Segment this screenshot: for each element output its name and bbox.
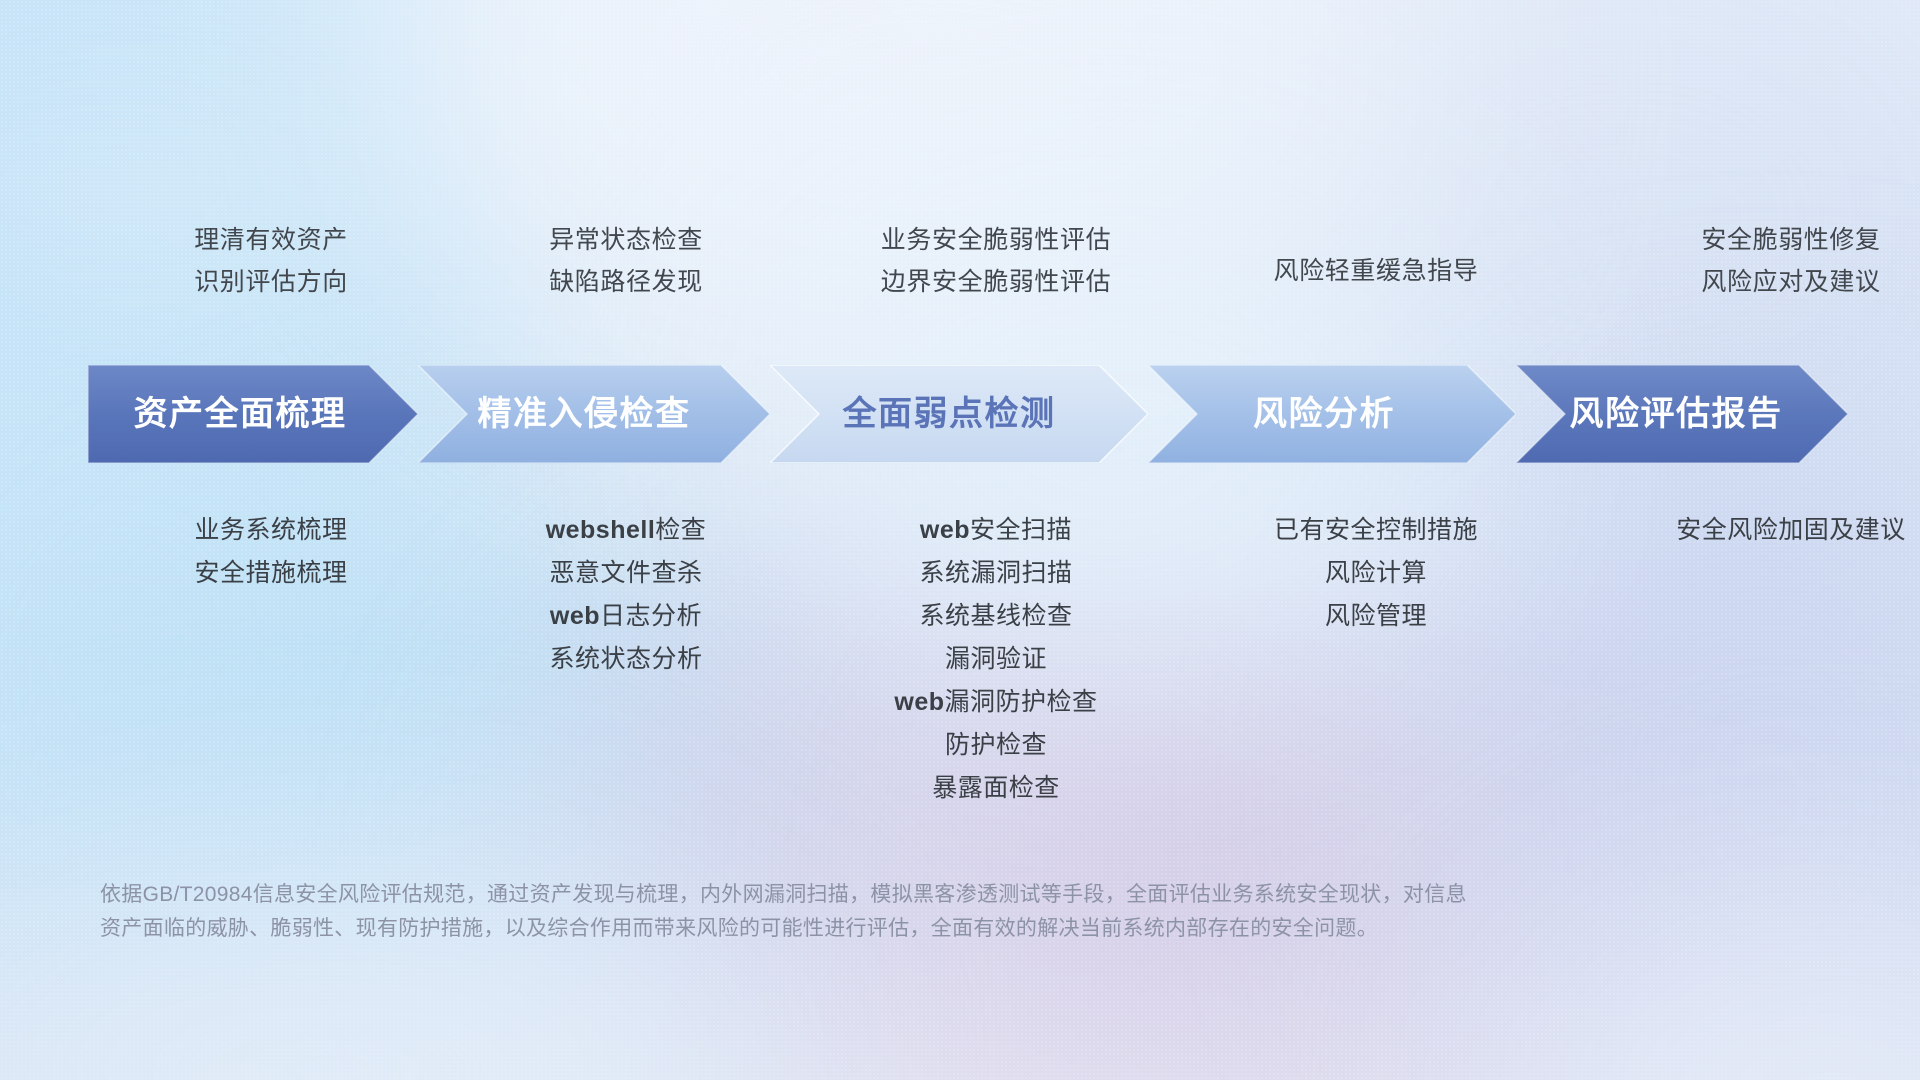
top-notes-row: 理清有效资产 识别评估方向 异常状态检查 缺陷路径发现 业务安全脆弱性评估 边界…: [0, 228, 1920, 295]
bottom-notes-risk-report: 安全风险加固及建议: [1566, 518, 1920, 543]
top-note: 缺陷路径发现: [549, 270, 703, 295]
bottom-note: web日志分析: [550, 604, 702, 629]
footer-line-1: 依据GB/T20984信息安全风险评估规范，通过资产发现与梳理，内外网漏洞扫描，…: [100, 878, 1730, 912]
bottom-note: 已有安全控制措施: [1274, 518, 1478, 543]
bottom-note-en: web: [920, 516, 970, 544]
bottom-note: 系统漏洞扫描: [919, 561, 1072, 586]
bottom-note-cn: 暴露面检查: [932, 774, 1060, 802]
bottom-note: web安全扫描: [920, 518, 1072, 543]
bottom-notes-intrusion-check: webshell检查 恶意文件查杀 web日志分析 系统状态分析: [446, 518, 806, 672]
bottom-note-cn: 漏洞验证: [945, 645, 1047, 673]
bottom-note-cn: 安全风险加固及建议: [1676, 516, 1906, 544]
bottom-note-cn: 安全措施梳理: [194, 559, 347, 587]
bottom-note-cn: 风险管理: [1325, 602, 1427, 630]
bottom-note: web漏洞防护检查: [894, 690, 1097, 715]
bottom-note-cn: 系统漏洞扫描: [919, 559, 1072, 587]
bottom-note-cn: 系统基线检查: [919, 602, 1072, 630]
bottom-note-cn: 日志分析: [600, 602, 702, 630]
bottom-note: 风险管理: [1325, 604, 1427, 629]
bottom-note: 恶意文件查杀: [549, 561, 702, 586]
top-note: 风险应对及建议: [1701, 270, 1880, 295]
bottom-note-cn: 风险计算: [1325, 559, 1427, 587]
top-notes-intrusion-check: 异常状态检查 缺陷路径发现: [446, 228, 806, 295]
bottom-notes-risk-analysis: 已有安全控制措施 风险计算 风险管理: [1186, 518, 1566, 629]
bottom-note: 系统基线检查: [919, 604, 1072, 629]
chevron-label: 全面弱点检测: [843, 397, 1056, 431]
diagram-canvas: 理清有效资产 识别评估方向 异常状态检查 缺陷路径发现 业务安全脆弱性评估 边界…: [0, 0, 1920, 1080]
top-note: 安全脆弱性修复: [1701, 228, 1880, 253]
top-notes-weakness-detection: 业务安全脆弱性评估 边界安全脆弱性评估: [806, 228, 1186, 295]
bottom-note-cn: 恶意文件查杀: [549, 559, 702, 587]
bottom-note: 防护检查: [945, 733, 1047, 758]
bottom-notes-asset-inventory: 业务系统梳理 安全措施梳理: [96, 518, 446, 586]
chevron-label: 风险评估报告: [1570, 397, 1783, 431]
bottom-note-cn: 防护检查: [945, 731, 1047, 759]
bottom-note-cn: 已有安全控制措施: [1274, 516, 1478, 544]
top-notes-risk-report: 安全脆弱性修复 风险应对及建议: [1566, 228, 1920, 295]
chevron-stage-risk-report[interactable]: 风险评估报告: [1516, 365, 1848, 463]
chevron-label: 精准入侵检查: [478, 397, 691, 431]
bottom-note-cn: 安全扫描: [970, 516, 1072, 544]
bottom-note: 安全风险加固及建议: [1676, 518, 1906, 543]
bottom-note: 漏洞验证: [945, 647, 1047, 672]
bottom-note: 安全措施梳理: [194, 561, 347, 586]
chevron-stage-risk-analysis[interactable]: 风险分析: [1148, 365, 1516, 463]
bottom-note: 系统状态分析: [549, 647, 702, 672]
top-note: 异常状态检查: [549, 228, 703, 253]
chevron-stage-asset-inventory[interactable]: 资产全面梳理: [88, 365, 418, 463]
footer-line-2: 资产面临的威胁、脆弱性、现有防护措施，以及综合作用而带来风险的可能性进行评估，全…: [100, 912, 1730, 946]
chevron-stage-intrusion-check[interactable]: 精准入侵检查: [418, 365, 770, 463]
bottom-note-cn: 检查: [655, 516, 706, 544]
top-note: 识别评估方向: [194, 270, 348, 295]
top-notes-asset-inventory: 理清有效资产 识别评估方向: [96, 228, 446, 295]
process-chevron-band: 资产全面梳理 精准入侵检查: [88, 365, 1848, 463]
chevron-stage-weakness-detection[interactable]: 全面弱点检测: [770, 365, 1148, 463]
bottom-note-cn: 系统状态分析: [549, 645, 702, 673]
footer-description: 依据GB/T20984信息安全风险评估规范，通过资产发现与梳理，内外网漏洞扫描，…: [100, 878, 1730, 946]
top-note: 理清有效资产: [194, 228, 348, 253]
top-note: 风险轻重缓急指导: [1274, 259, 1479, 284]
top-notes-risk-analysis: 风险轻重缓急指导: [1186, 228, 1566, 295]
top-note: 业务安全脆弱性评估: [881, 228, 1111, 253]
chevron-label: 资产全面梳理: [134, 397, 347, 431]
bottom-note-en: web: [894, 688, 944, 716]
bottom-note-cn: 漏洞防护检查: [945, 688, 1098, 716]
bottom-note-en: webshell: [546, 516, 656, 544]
bottom-note: 暴露面检查: [932, 776, 1060, 801]
top-note: 边界安全脆弱性评估: [881, 270, 1111, 295]
bottom-note: 业务系统梳理: [194, 518, 347, 543]
bottom-note: webshell检查: [546, 518, 707, 543]
chevron-label: 风险分析: [1253, 397, 1395, 431]
bottom-notes-weakness-detection: web安全扫描 系统漏洞扫描 系统基线检查 漏洞验证 web漏洞防护检查 防护检…: [806, 518, 1186, 801]
bottom-notes-row: 业务系统梳理 安全措施梳理 webshell检查 恶意文件查杀 web日志分析 …: [0, 518, 1920, 801]
bottom-note-en: web: [550, 602, 600, 630]
bottom-note-cn: 业务系统梳理: [194, 516, 347, 544]
bottom-note: 风险计算: [1325, 561, 1427, 586]
